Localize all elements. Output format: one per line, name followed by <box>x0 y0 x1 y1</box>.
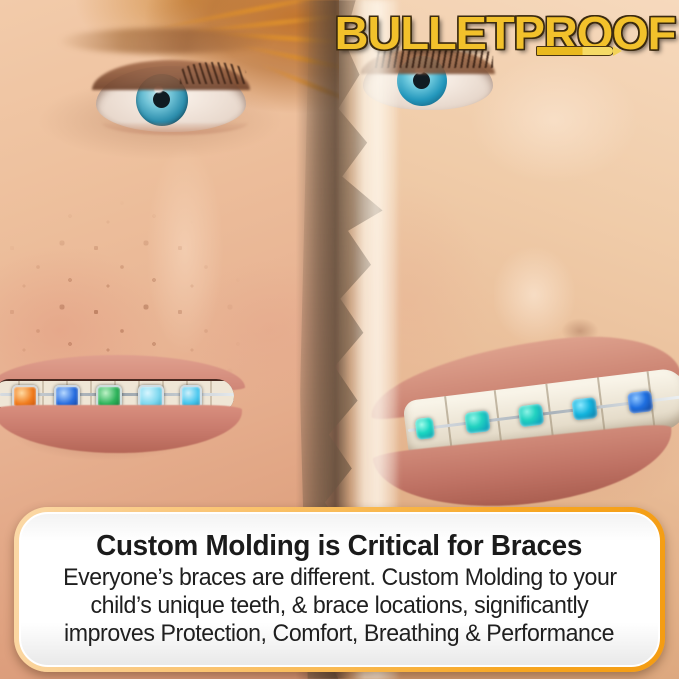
bracket-blue <box>627 390 653 414</box>
bracket-teal <box>572 397 598 421</box>
bracket-teal <box>518 404 544 428</box>
eye-lower-lid <box>102 123 248 135</box>
caption-headline: Custom Molding is Critical for Braces <box>97 529 583 563</box>
brand-logo-text: BULLETPROOF <box>335 10 676 56</box>
product-image-ad: BULLETPROOF Custom Molding is Critical f… <box>0 0 679 679</box>
brand-logo: BULLETPROOF <box>332 6 672 60</box>
caption-inner: Custom Molding is Critical for Braces Ev… <box>19 512 660 667</box>
bracket-teal <box>415 417 435 440</box>
caption-line-1: Everyone’s braces are different. Custom … <box>63 564 617 592</box>
eye-left-child <box>96 66 246 132</box>
eye-pupil <box>153 91 170 108</box>
bracket-teal <box>464 410 490 434</box>
bullet-cartridge-icon <box>536 46 614 56</box>
eyebrow <box>60 28 270 54</box>
mouth-with-colorful-braces <box>0 355 250 465</box>
eyelashes <box>180 62 246 84</box>
caption-panel: Custom Molding is Critical for Braces Ev… <box>14 507 665 672</box>
caption-line-3: improves Protection, Comfort, Breathing … <box>64 620 614 648</box>
mouth-with-teal-braces <box>367 330 679 520</box>
lower-lip <box>0 405 242 453</box>
eye-pupil <box>413 72 430 89</box>
caption-line-2: child’s unique teeth, & brace locations,… <box>91 592 589 620</box>
